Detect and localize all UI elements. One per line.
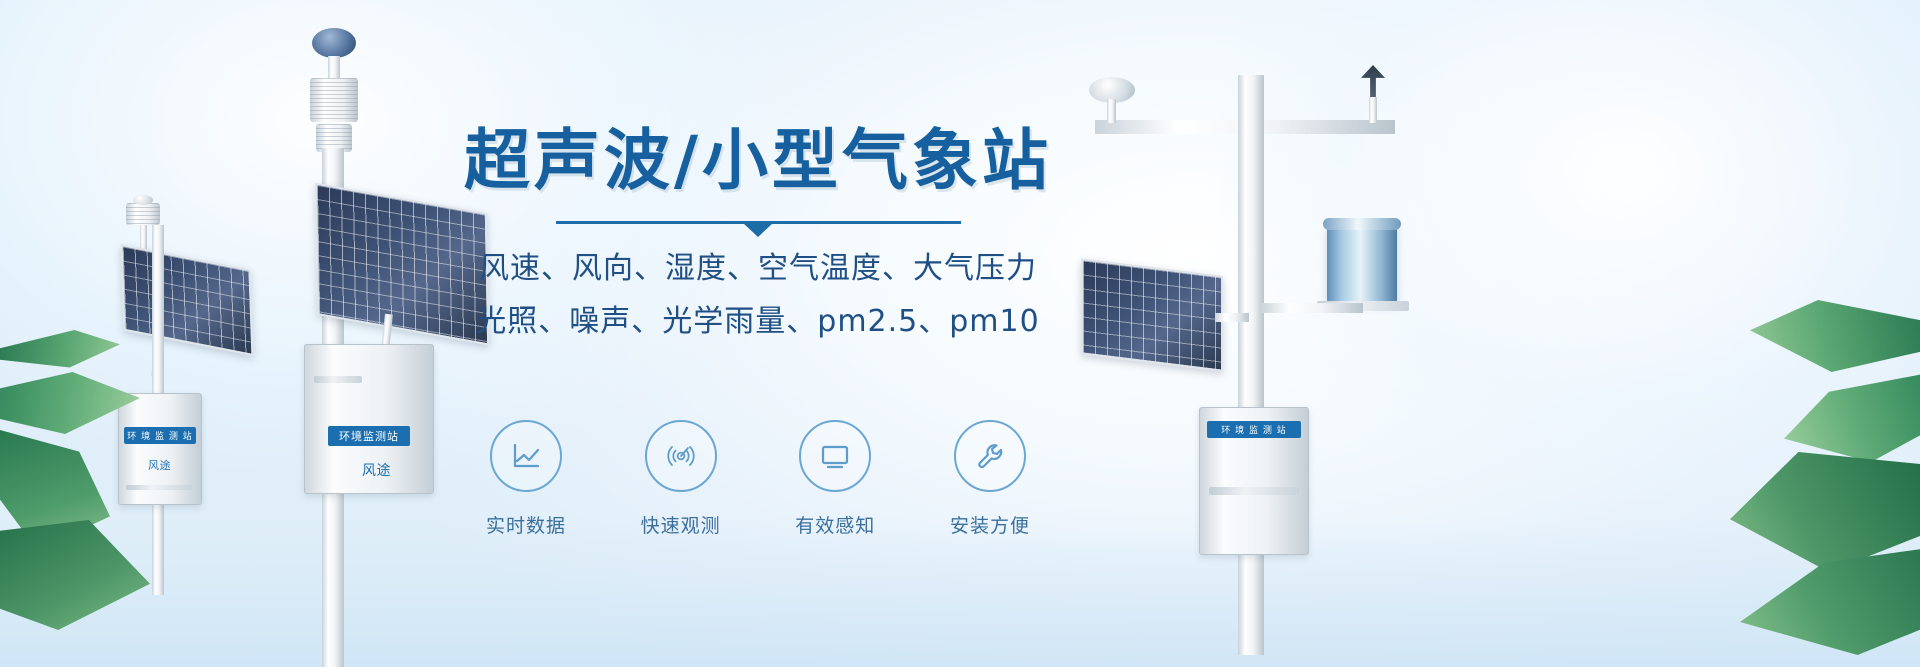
radiation-shield-left: [126, 203, 160, 225]
anemometer-stem-middle: [328, 56, 340, 78]
weather-station-right: 环 境 监 测 站: [1075, 55, 1415, 655]
subtitle-block: 风速、风向、湿度、空气温度、大气压力 光照、噪声、光学雨量、pm2.5、pm10: [448, 246, 1068, 344]
radiation-shield-middle: [310, 78, 358, 122]
feature-item-easy-install[interactable]: 安装方便: [930, 420, 1050, 538]
sensor-cap-left: [133, 195, 153, 205]
solar-panel-arm-right: [1215, 313, 1249, 322]
feature-list: 实时数据 快速观测 有效感知: [448, 420, 1068, 538]
wind-vane-stem-right: [1369, 97, 1377, 123]
feature-label: 快速观测: [621, 511, 741, 538]
page-title: 超声波/小型气象站: [448, 126, 1068, 195]
cabinet-label-right[interactable]: 环 境 监 测 站: [1207, 421, 1301, 438]
radar-signal-icon: [645, 420, 717, 492]
brand-logo-left: 风途: [148, 457, 171, 473]
title-divider: [556, 221, 961, 224]
subtitle-line-1: 风速、风向、湿度、空气温度、大气压力: [448, 246, 1068, 291]
brand-logo-middle: 风途: [362, 460, 391, 480]
rain-gauge-right: [1327, 223, 1397, 303]
solar-panel-right: [1081, 258, 1223, 371]
monitor-icon: [799, 420, 871, 492]
banner-stage: 环 境 监 测 站 风途 环境监测站 风途: [0, 0, 1920, 667]
cabinet-vent-right: [1209, 487, 1299, 495]
feature-label: 实时数据: [466, 511, 586, 538]
cabinet-vent-left: [126, 485, 192, 490]
anemometer-stem-right: [1107, 99, 1116, 123]
pole-right: [1238, 75, 1264, 655]
wind-vane-right: [1361, 65, 1385, 99]
feature-label: 有效感知: [775, 511, 895, 538]
cabinet-vent-middle: [314, 376, 362, 383]
subtitle-line-2: 光照、噪声、光学雨量、pm2.5、pm10: [448, 299, 1068, 344]
feature-item-fast-observation[interactable]: 快速观测: [621, 420, 741, 538]
cabinet-label-left[interactable]: 环 境 监 测 站: [124, 427, 196, 444]
leaf-right-2: [1784, 372, 1920, 462]
wrench-icon: [954, 420, 1026, 492]
ultrasonic-anemometer-middle: [312, 28, 356, 58]
feature-item-effective-sensing[interactable]: 有效感知: [775, 420, 895, 538]
line-chart-icon: [490, 420, 562, 492]
feature-item-realtime-data[interactable]: 实时数据: [466, 420, 586, 538]
leaf-right-1: [1750, 300, 1920, 372]
feature-label: 安装方便: [930, 511, 1050, 538]
rain-gauge-rim-right: [1323, 218, 1401, 230]
banner-text-block: 超声波/小型气象站 风速、风向、湿度、空气温度、大气压力 光照、噪声、光学雨量、…: [448, 126, 1068, 344]
solar-panel-left: [121, 244, 254, 356]
cabinet-label-middle[interactable]: 环境监测站: [328, 426, 410, 446]
rain-gauge-arm-right: [1261, 303, 1363, 313]
caret-down-icon: [743, 223, 773, 237]
